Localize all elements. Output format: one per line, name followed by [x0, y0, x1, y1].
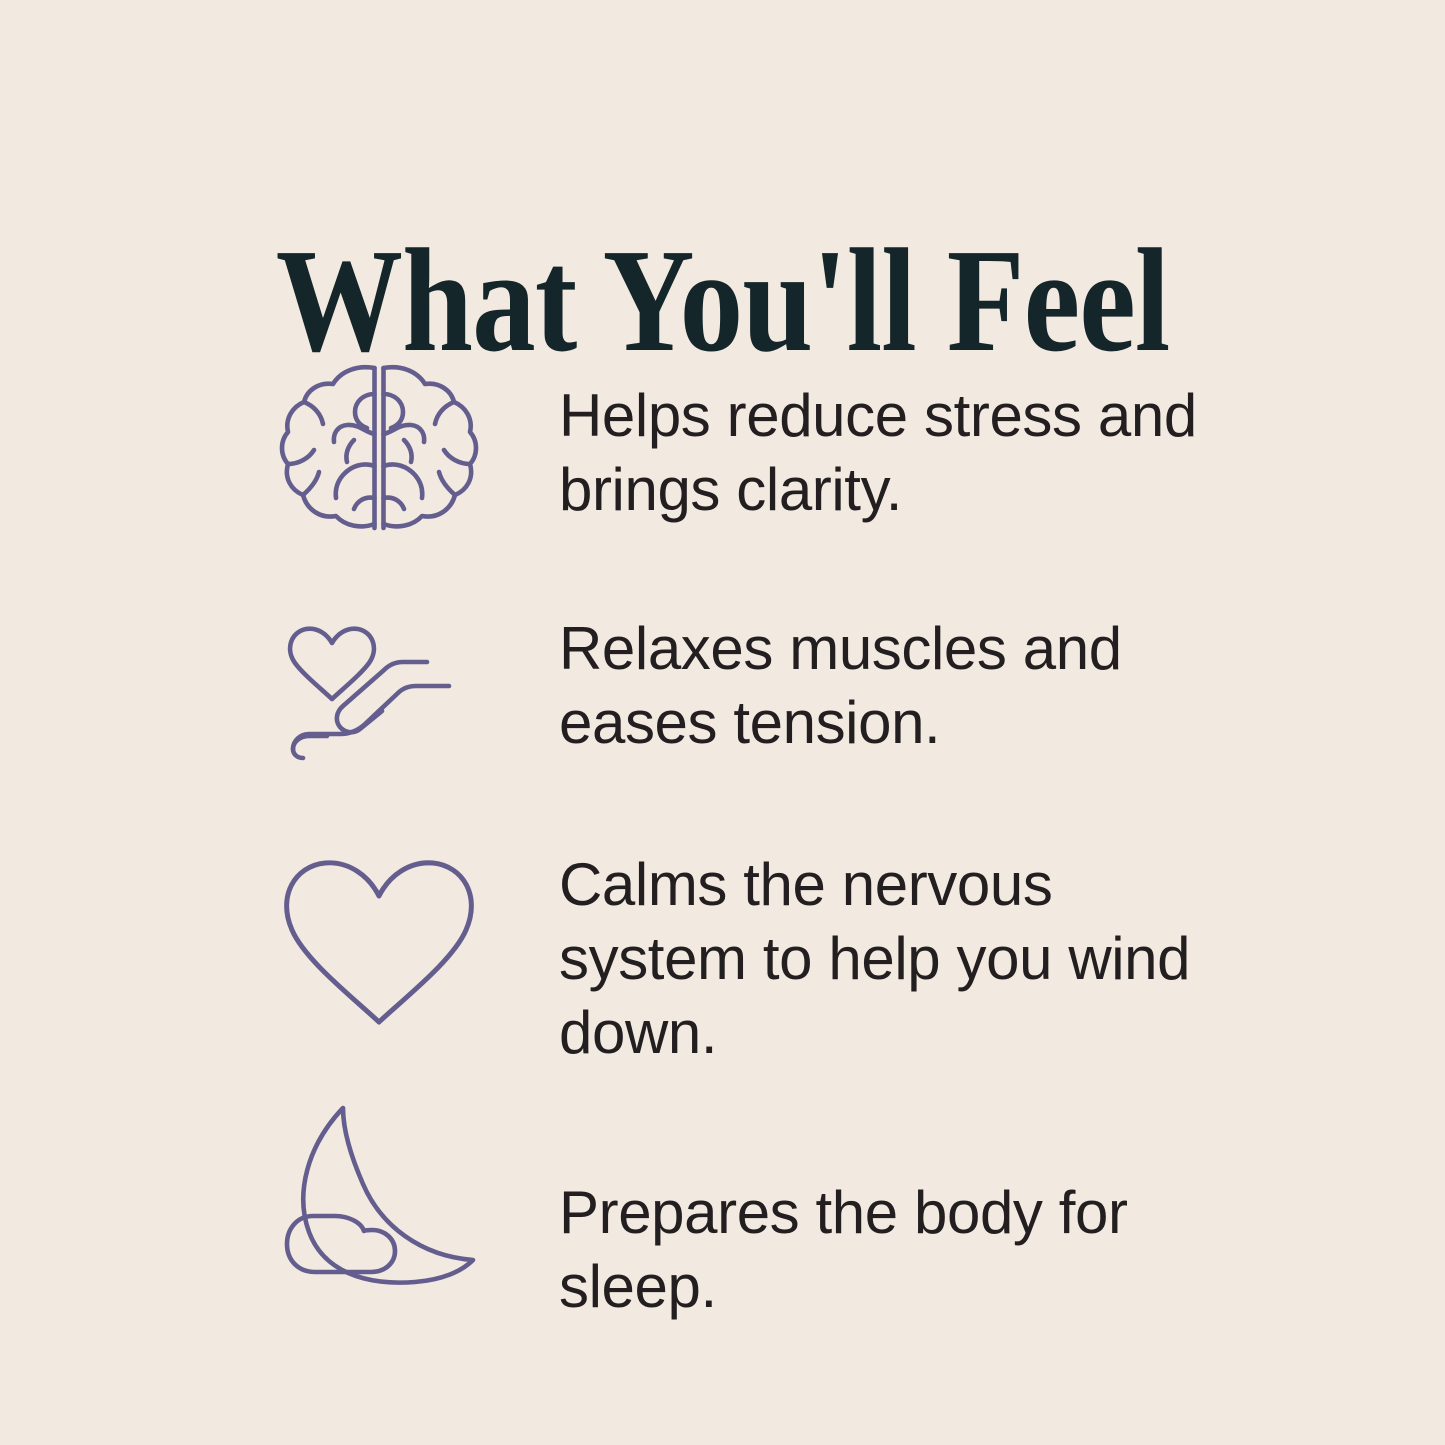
benefit-text: Calms the nervous system to help you win…	[559, 848, 1239, 1070]
heart-icon	[281, 858, 477, 1026]
benefit-icon-cell	[281, 352, 481, 534]
benefit-text: Prepares the body for sleep.	[559, 1176, 1239, 1324]
benefit-text: Helps reduce stress and brings clarity.	[559, 379, 1239, 527]
benefit-row: Relaxes muscles and eases tension.	[0, 606, 1445, 760]
crescent-moon-cloud-icon	[281, 1098, 477, 1288]
benefit-icon-cell	[281, 1098, 481, 1288]
benefit-row: Calms the nervous system to help you win…	[0, 836, 1445, 1070]
benefit-row: Prepares the body for sleep.	[0, 1098, 1445, 1324]
benefit-text: Relaxes muscles and eases tension.	[559, 612, 1239, 760]
brain-icon	[281, 362, 477, 534]
benefit-icon-cell	[281, 606, 481, 758]
benefits-list: Helps reduce stress and brings clarity. …	[0, 352, 1445, 1324]
what-you-will-feel-panel: What You'll Feel	[0, 0, 1445, 1445]
heart-in-hand-icon	[281, 618, 477, 758]
benefit-row: Helps reduce stress and brings clarity.	[0, 352, 1445, 534]
benefit-icon-cell	[281, 836, 481, 1026]
